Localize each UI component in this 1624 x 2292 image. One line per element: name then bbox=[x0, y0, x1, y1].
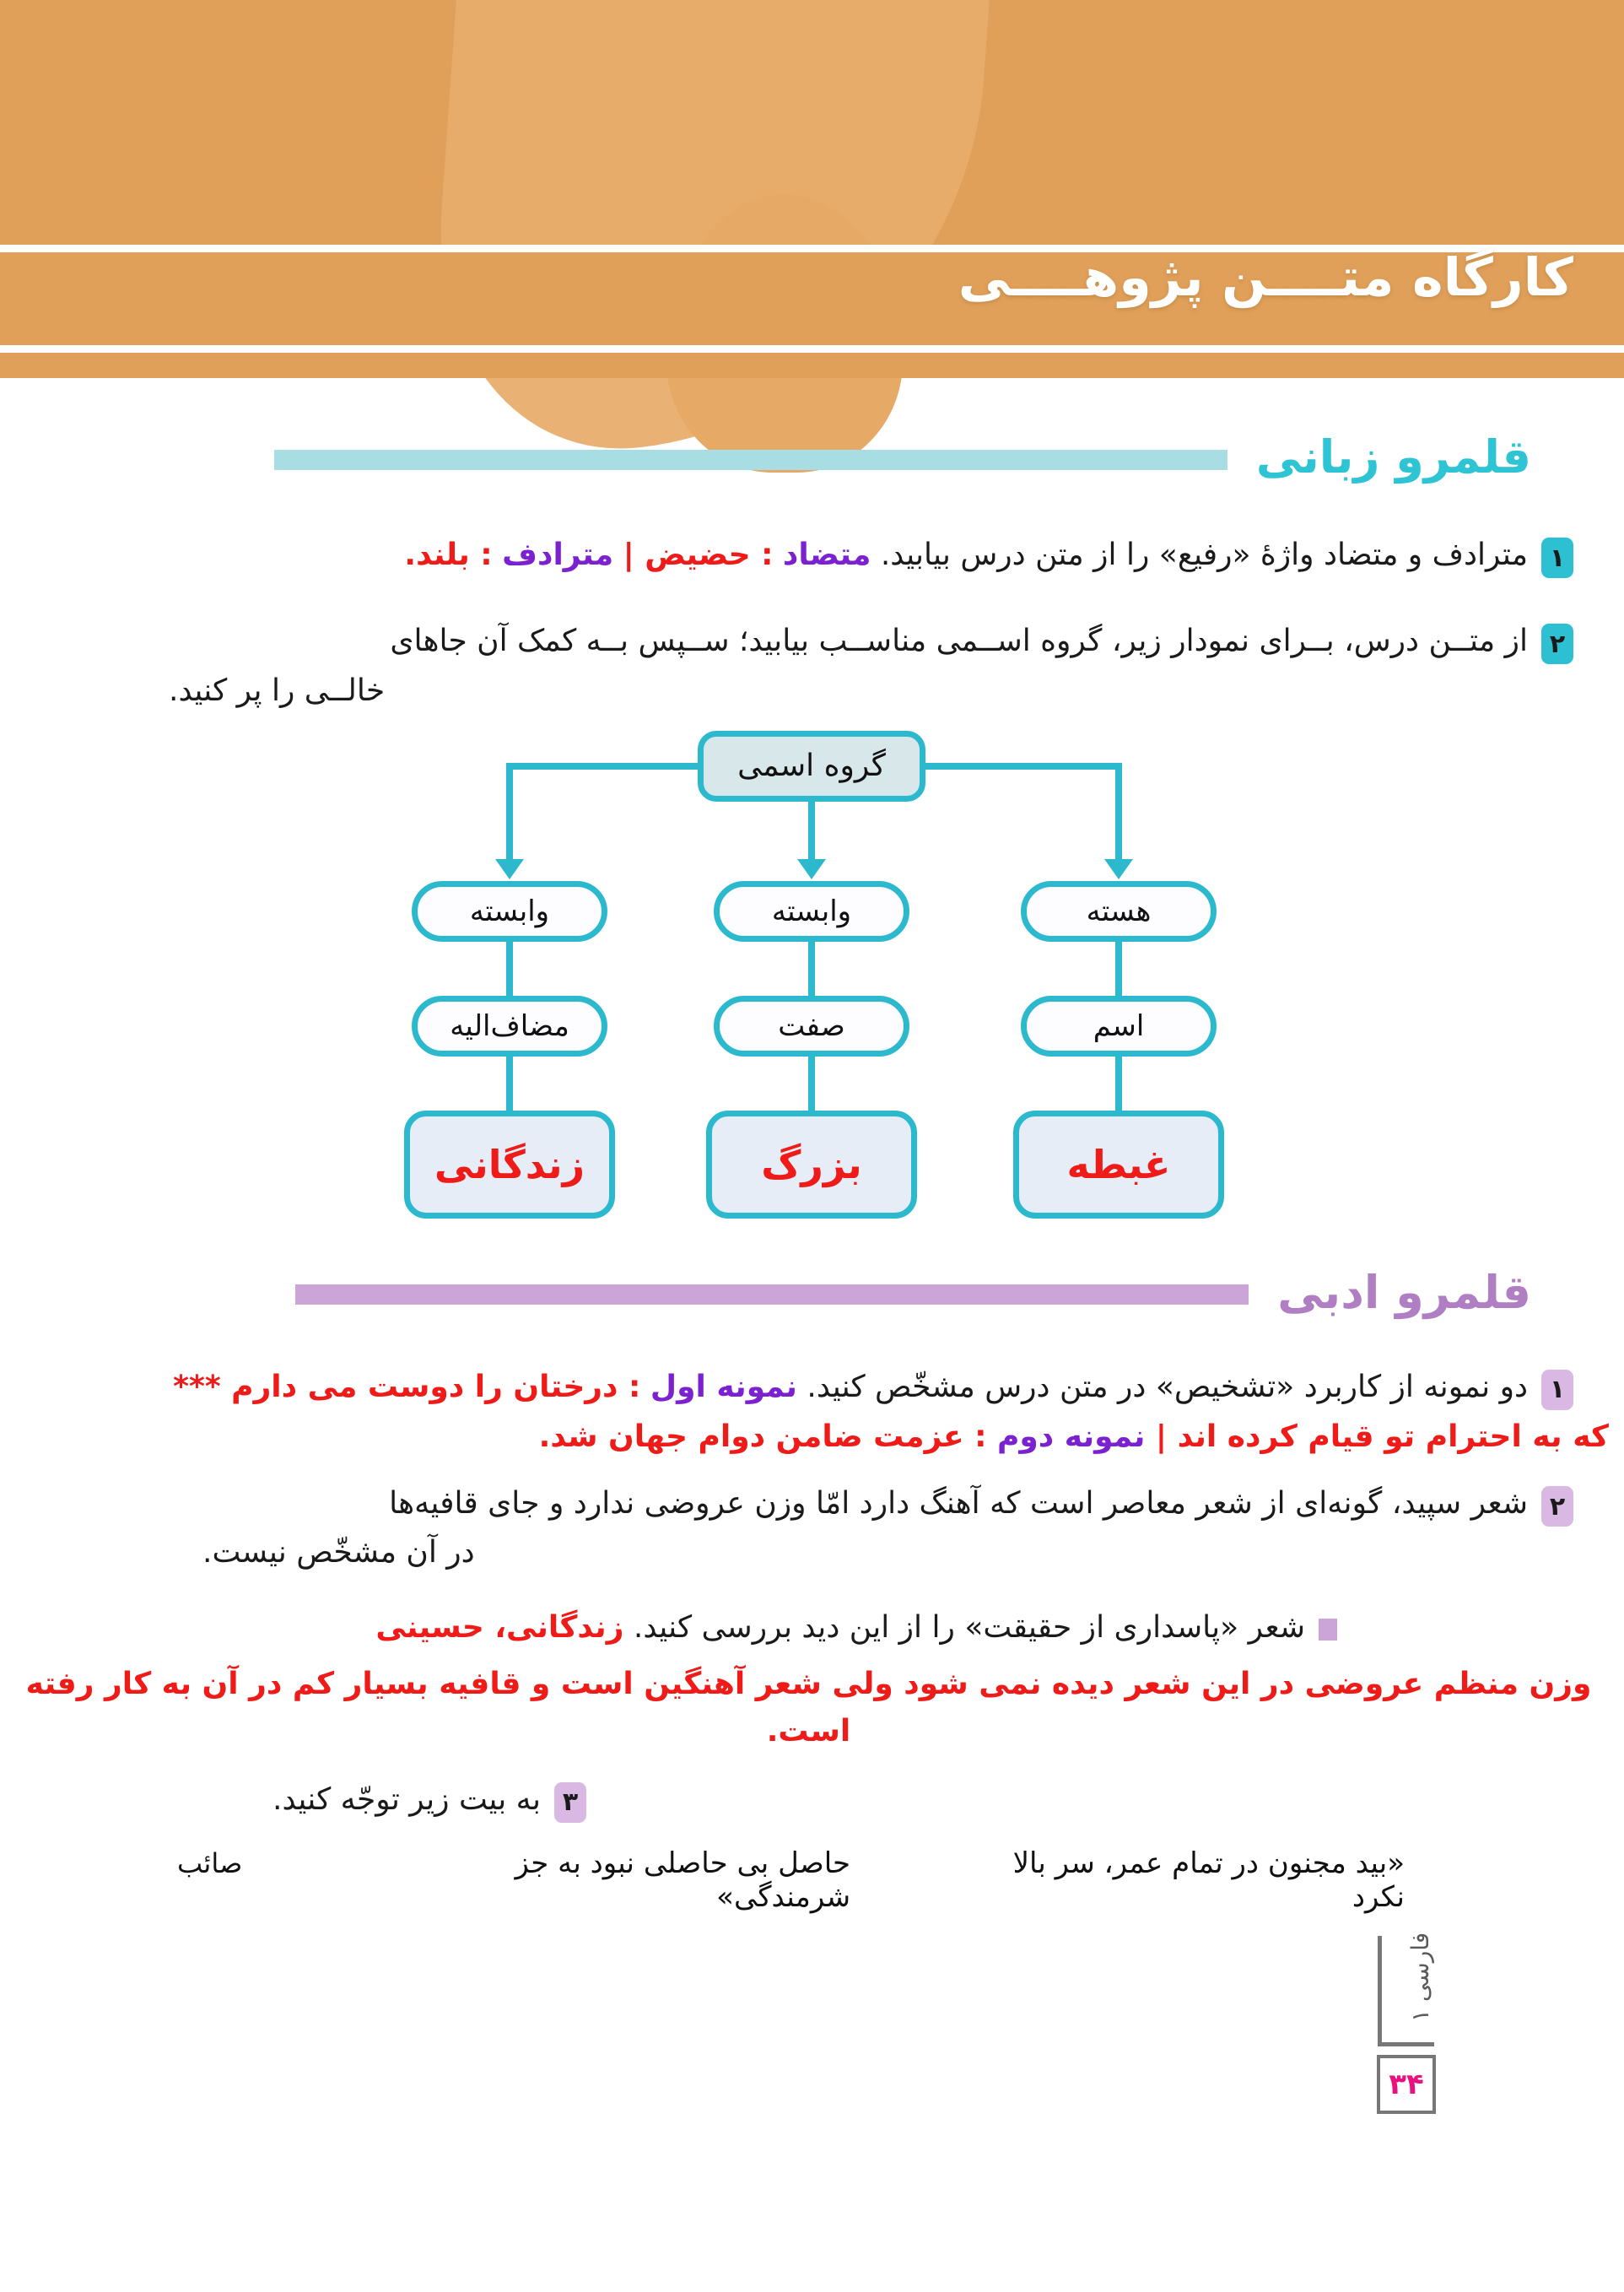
section-heading-qalamro-adabi: قلمرو ادبی bbox=[84, 1266, 1540, 1319]
bullet-item-adabi: شعر «پاسداری از حقیقت» را از این دید برر… bbox=[34, 1603, 1337, 1652]
tree-edge-col1-a bbox=[506, 942, 513, 996]
tree-arrow-col2 bbox=[797, 859, 826, 879]
page-title: کارگاه متــــن پژوهــــی bbox=[958, 246, 1573, 308]
poem-author: صائب bbox=[177, 1847, 242, 1879]
tree-arrow-col1 bbox=[495, 859, 524, 879]
tree-edge-col3-b bbox=[1115, 1057, 1122, 1111]
tree-node-col2-answer: بزرگ bbox=[706, 1111, 917, 1219]
question-zabani-2-line2: خالــی را پر کنید. bbox=[34, 667, 1528, 716]
bullet-item-prompt: شعر «پاسداری از حقیقت» را از این دید برر… bbox=[634, 1610, 1305, 1645]
tree-node-col1-level2: مضاف‌الیه bbox=[412, 996, 607, 1057]
question-zabani-2-text: از متــن درس، بــرای نمودار زیر، گروه اس… bbox=[34, 617, 1528, 716]
answer-label-moteradef: مترادف bbox=[502, 538, 613, 572]
textbook-page: آسان درس کارگاه متــــن پژوهــــی قلمرو … bbox=[0, 0, 1624, 2292]
tree-node-col2-level1: وابسته bbox=[714, 881, 909, 942]
header-divider-lower bbox=[0, 345, 1624, 353]
question-zabani-2-line1: از متــن درس، بــرای نمودار زیر، گروه اس… bbox=[34, 617, 1528, 666]
question-number-badge: ۲ bbox=[1541, 624, 1573, 664]
header-bottom-strip bbox=[0, 353, 1624, 378]
question-zabani-1-text: مترادف و متضاد واژهٔ «رفیع» را از متن در… bbox=[34, 531, 1528, 580]
tree-node-root: گروه اسمی bbox=[698, 731, 925, 802]
question-zabani-1-prompt: مترادف و متضاد واژهٔ «رفیع» را از متن در… bbox=[881, 538, 1528, 572]
question-adabi-2-text: شعر سپید، گونه‌ای از شعر معاصر است که آه… bbox=[34, 1479, 1528, 1578]
section-title-language: قلمرو زبانی bbox=[1256, 430, 1540, 484]
section-rule-language bbox=[274, 450, 1227, 470]
page-number: ۳۴ bbox=[1377, 2055, 1436, 2114]
bullet-item-answer-line2: وزن منظم عروضی در این شعر دیده نمی شود و… bbox=[8, 1661, 1609, 1755]
poem-hemistich-left: حاصل بی حاصلی نبود به جز شرمندگی» bbox=[372, 1846, 850, 1914]
question-number-badge: ۱ bbox=[1541, 538, 1573, 578]
tree-node-col3-level1: هسته bbox=[1021, 881, 1217, 942]
tree-edge-col2-a bbox=[808, 942, 815, 996]
answer-adabi-1-line2: که به احترام تو قیام کرده اند | نمونه دو… bbox=[8, 1414, 1609, 1461]
question-adabi-3: ۳ به بیت زیر توجّه کنید. bbox=[34, 1776, 586, 1824]
question-adabi-2-line2: در آن مشخّص نیست. bbox=[34, 1528, 1528, 1577]
tree-edge-col2-b bbox=[808, 1057, 815, 1111]
question-number-badge: ۲ bbox=[1541, 1486, 1573, 1527]
footer-rule-horizontal bbox=[1378, 2042, 1434, 2046]
poem-couplet: «بید مجنون در تمام عمر، سر بالا نکرد حاص… bbox=[177, 1846, 1405, 1914]
tree-node-col3-answer: غبطه bbox=[1013, 1111, 1224, 1219]
question-adabi-1-text: دو نمونه از کاربرد «تشخیص» در متن درس مش… bbox=[34, 1363, 1528, 1412]
answer-value-nemune-aval: : درختان را دوست می دارم *** bbox=[173, 1370, 640, 1404]
question-adabi-1: ۱ دو نمونه از کاربرد «تشخیص» در متن درس … bbox=[34, 1363, 1573, 1412]
tree-node-col3-level2: اسم bbox=[1021, 996, 1217, 1057]
section-heading-qalamro-zabani: قلمرو زبانی bbox=[84, 430, 1540, 484]
answer-value-nemune-dovom: : عزمت ضامن دوام جهان شد. bbox=[539, 1419, 987, 1454]
answer-label-motazad: متضاد bbox=[783, 538, 871, 572]
question-number-badge: ۳ bbox=[554, 1782, 586, 1823]
question-adabi-2: ۲ شعر سپید، گونه‌ای از شعر معاصر است که … bbox=[34, 1479, 1573, 1578]
tree-edge-col1-b bbox=[506, 1057, 513, 1111]
poem-hemistich-right: «بید مجنون در تمام عمر، سر بالا نکرد bbox=[952, 1846, 1405, 1914]
tree-edge-h-right bbox=[506, 763, 704, 770]
footer-book-label: فارسی ۱ bbox=[1406, 1933, 1434, 2039]
tree-arrow-col3 bbox=[1104, 859, 1133, 879]
section-rule-literary bbox=[295, 1284, 1249, 1305]
question-zabani-2: ۲ از متــن درس، بــرای نمودار زیر، گروه … bbox=[34, 617, 1573, 716]
tree-edge-v-col1 bbox=[506, 763, 513, 862]
footer-rule-vertical bbox=[1378, 1936, 1382, 2042]
tree-node-col2-level2: صفت bbox=[714, 996, 909, 1057]
tree-node-col1-level1: وابسته bbox=[412, 881, 607, 942]
tree-node-col1-answer: زندگانی bbox=[404, 1111, 615, 1219]
answer-value-motazad: : حضیض | bbox=[623, 538, 774, 572]
tree-edge-v-col2 bbox=[808, 802, 815, 862]
answer-label-nemune-dovom: نمونه دوم bbox=[997, 1419, 1145, 1454]
question-adabi-3-text: به بیت زیر توجّه کنید. bbox=[34, 1776, 541, 1824]
question-adabi-1-prompt: دو نمونه از کاربرد «تشخیص» در متن درس مش… bbox=[807, 1370, 1528, 1404]
noun-phrase-tree-diagram: گروه اسمی وابسته مضاف‌الیه زندگانی وابست… bbox=[0, 731, 1624, 1254]
answer-nemune-aval-continuation: که به احترام تو قیام کرده اند | bbox=[1156, 1419, 1609, 1454]
page-content: قلمرو زبانی ۱ مترادف و متضاد واژهٔ «رفیع… bbox=[0, 380, 1624, 1914]
bullet-item-text: شعر «پاسداری از حقیقت» را از این دید برر… bbox=[34, 1603, 1305, 1652]
question-number-badge: ۱ bbox=[1541, 1370, 1573, 1410]
question-zabani-1: ۱ مترادف و متضاد واژهٔ «رفیع» را از متن … bbox=[34, 531, 1573, 580]
section-title-literary: قلمرو ادبی bbox=[1277, 1266, 1540, 1319]
tree-edge-v-col3 bbox=[1115, 763, 1122, 862]
square-bullet-icon bbox=[1319, 1619, 1337, 1641]
bullet-item-answer-inline: زندگانی، حسینی bbox=[375, 1610, 623, 1645]
tree-edge-h-left bbox=[920, 763, 1122, 770]
tree-edge-col3-a bbox=[1115, 942, 1122, 996]
question-adabi-2-line1: شعر سپید، گونه‌ای از شعر معاصر است که آه… bbox=[34, 1479, 1528, 1528]
answer-value-moteradef: : بلند. bbox=[404, 538, 492, 572]
answer-label-nemune-aval: نمونه اول bbox=[650, 1370, 797, 1404]
